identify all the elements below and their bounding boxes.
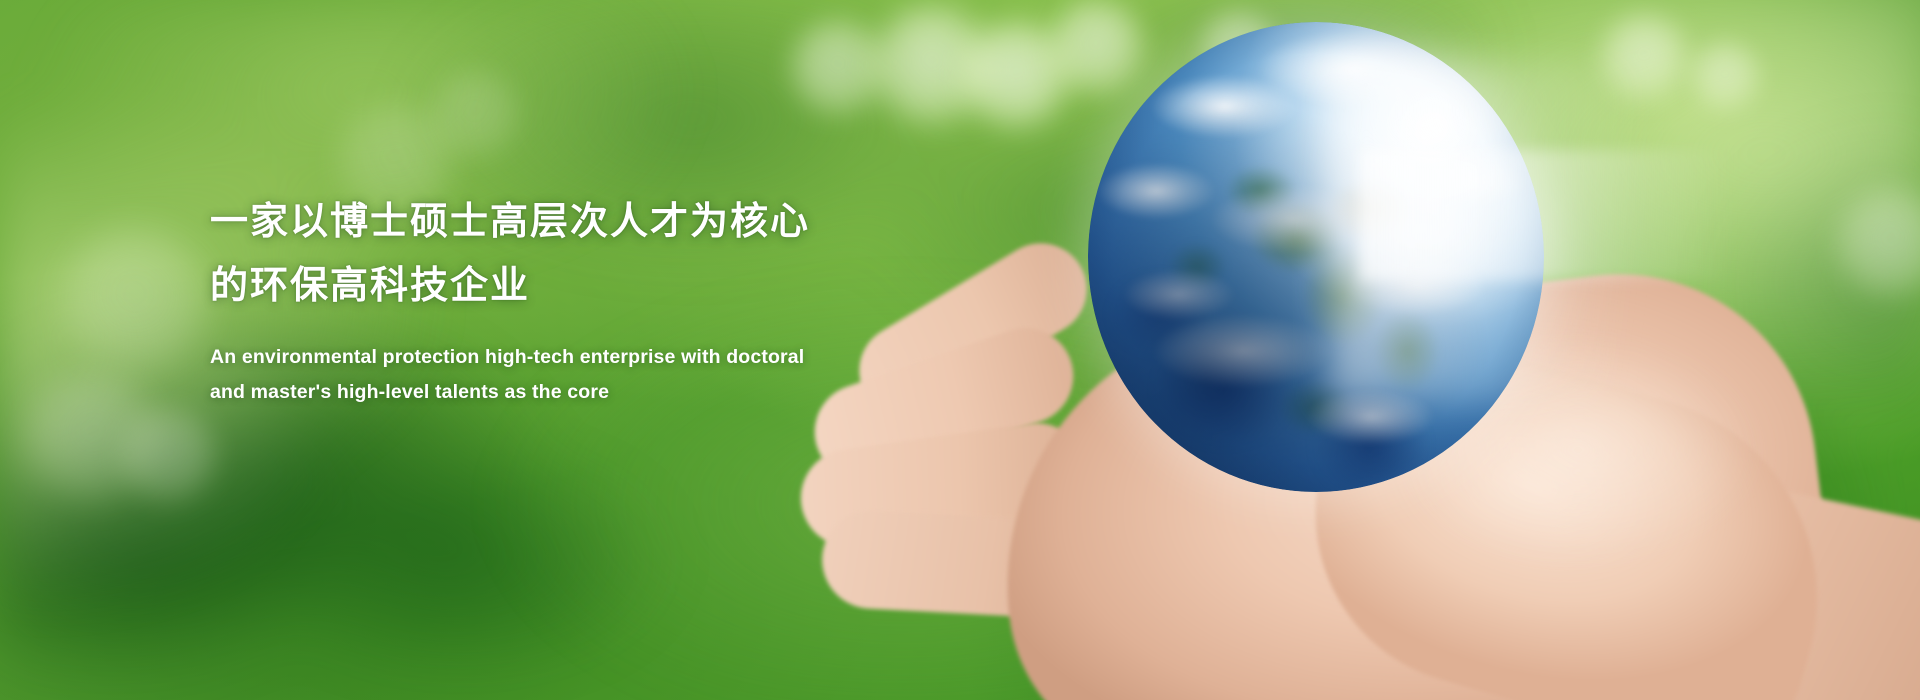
- bokeh-circle: [60, 226, 210, 376]
- subheadline-line-1: An environmental protection high-tech en…: [210, 340, 850, 375]
- headline-line-2: 的环保高科技企业: [210, 254, 850, 318]
- headline-line-1: 一家以博士硕士高层次人才为核心: [210, 190, 850, 254]
- bokeh-circle: [1690, 42, 1760, 112]
- bokeh-circle: [120, 408, 216, 504]
- banner-text-block: 一家以博士硕士高层次人才为核心 的环保高科技企业 An environmenta…: [210, 190, 850, 410]
- hero-banner: 一家以博士硕士高层次人才为核心 的环保高科技企业 An environmenta…: [0, 0, 1920, 700]
- globe-shading: [1088, 22, 1544, 492]
- subheadline-block: An environmental protection high-tech en…: [210, 340, 850, 410]
- globe-sphere: [1088, 22, 1544, 492]
- bokeh-circle: [430, 70, 520, 160]
- subheadline-line-2: and master's high-level talents as the c…: [210, 375, 850, 410]
- bokeh-circle: [1600, 14, 1688, 102]
- earth-globe-image: [1088, 22, 1544, 492]
